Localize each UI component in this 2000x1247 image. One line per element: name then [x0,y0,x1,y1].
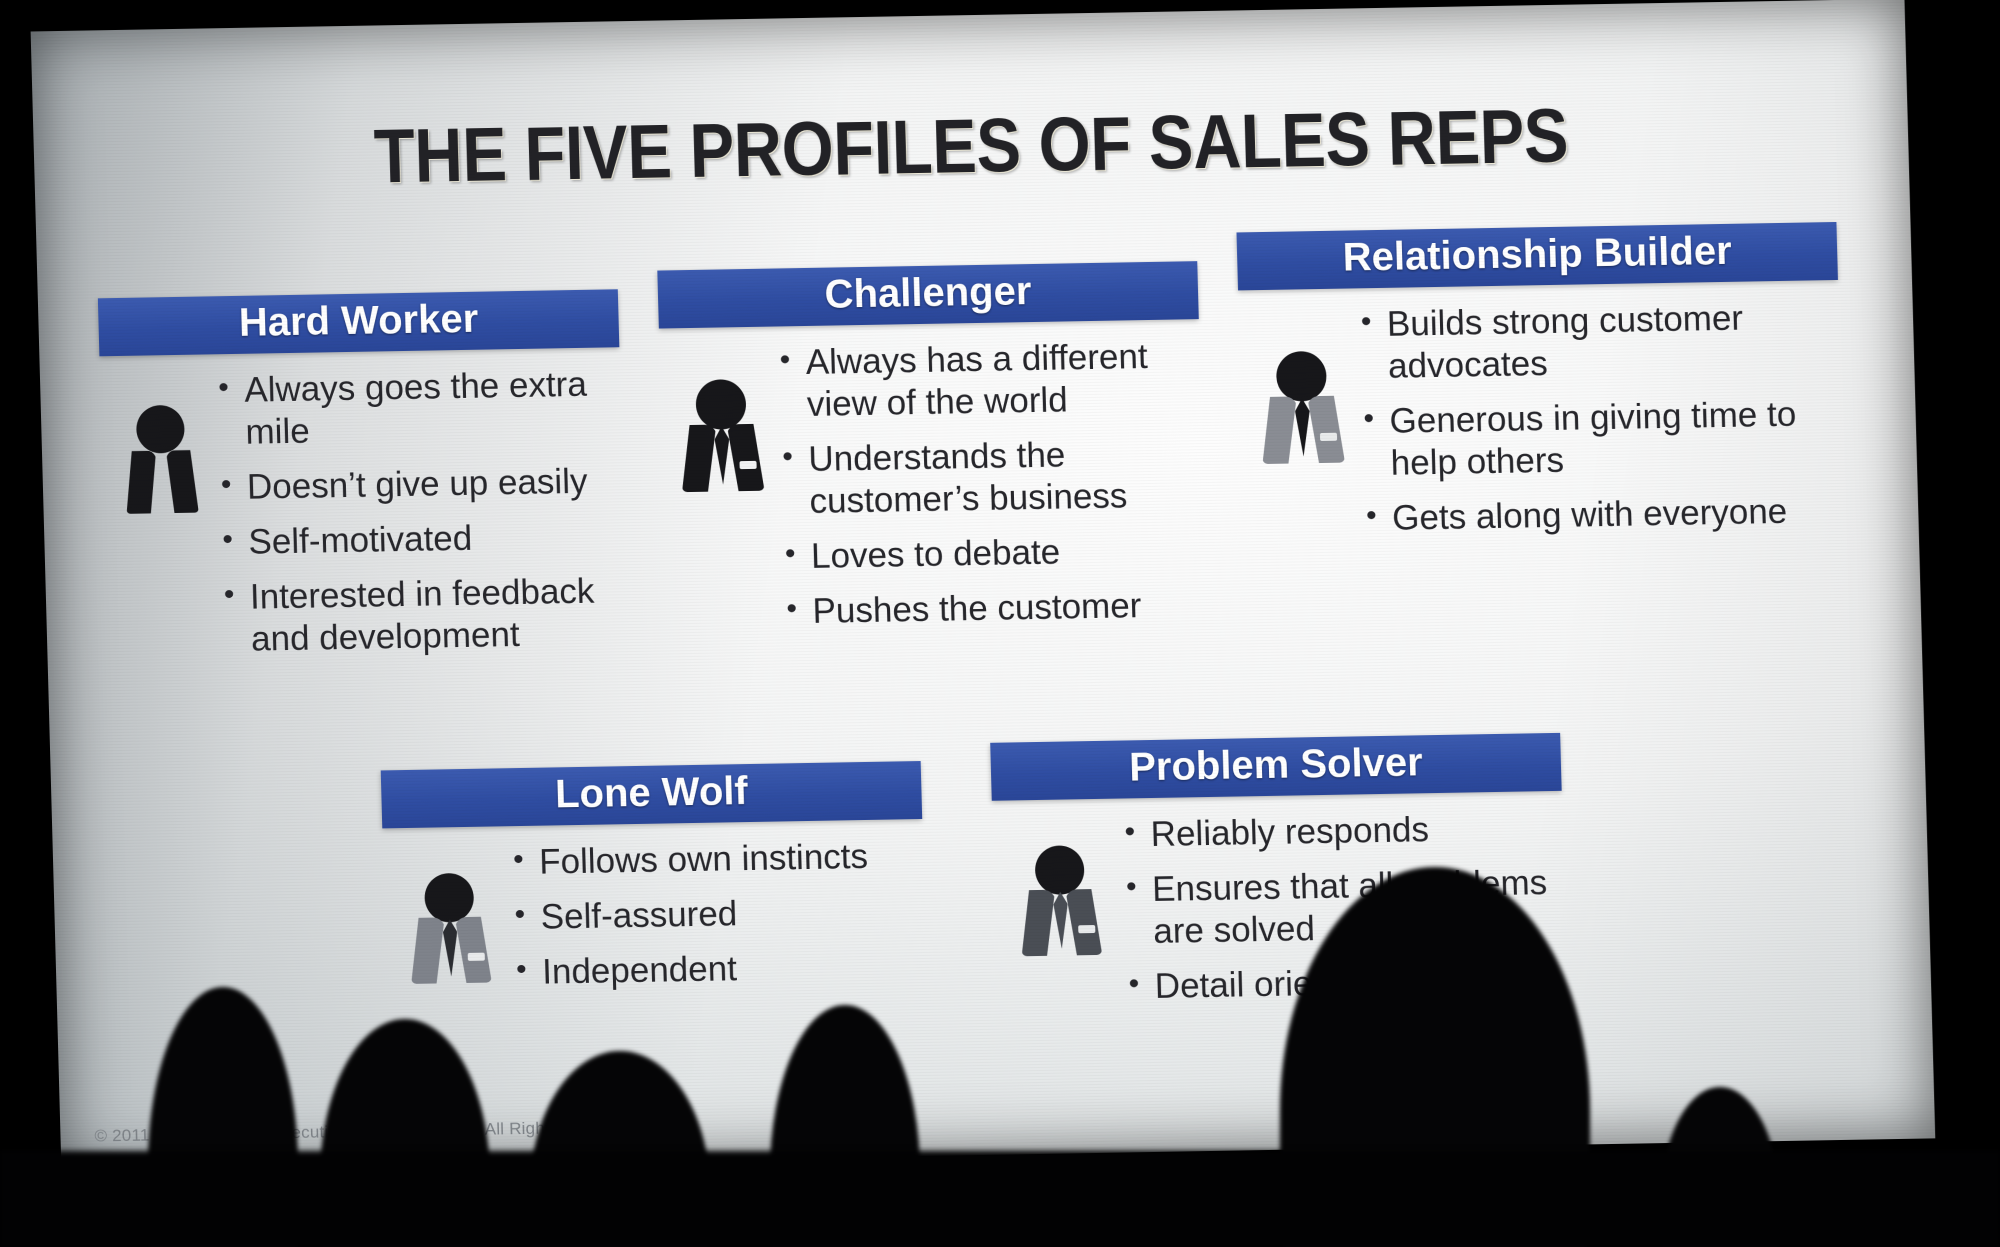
person-head [1035,845,1085,895]
icon-cell [659,342,783,492]
person-suit-icon [677,379,766,492]
icon-cell [100,370,222,514]
person-tie [1053,892,1069,949]
profile-header-challenger: Challenger [657,261,1199,328]
list-item: Self-assured [514,890,925,939]
list-item: Detail oriented [1128,959,1567,1009]
profile-bullets-challenger: Always has a different view of the world… [779,335,1207,646]
person-tie [1295,398,1311,456]
profile-bullets-lone-wolf: Follows own instincts Self-assured Indep… [513,835,927,1007]
profile-header-hard-worker: Hard Worker [98,289,620,356]
profile-header-problem-solver: Problem Solver [990,733,1562,801]
profile-card-challenger: Challenger Always has a differ [657,261,1207,648]
list-item: Interested in feedback and development [223,570,627,661]
person-tie [714,426,730,484]
profile-body-challenger: Always has a different view of the world… [659,319,1208,648]
person-torso-right [166,450,199,513]
person-torso-right [727,424,765,492]
person-plain-icon [119,405,204,514]
person-head [1276,351,1327,402]
person-torso-left [409,917,446,984]
list-item: Generous in giving time to help others [1363,393,1843,485]
slide-surface: THE FIVE PROFILES OF SALES REPS Hard Wor… [31,0,1936,1171]
profile-body-hard-worker: Always goes the extra mile Doesn’t give … [99,347,628,676]
icon-cell [992,814,1128,956]
list-item: Understands the customer’s business [782,432,1204,523]
list-item: Always has a different view of the world [779,335,1201,426]
icon-cell [383,842,517,984]
profile-bullets-hard-worker: Always goes the extra mile Doesn’t give … [218,363,628,674]
icon-cell [1238,304,1364,464]
profile-bullets-problem-solver: Reliably responds Ensures that all probl… [1124,807,1568,1022]
person-torso-right [1065,889,1102,956]
copyright-notice: © 2011 The Corporate Executive Board Com… [94,1117,643,1147]
profile-card-lone-wolf: Lone Wolf Follows own instinct [381,761,927,1009]
person-head [136,405,185,454]
list-item: Self-motivated [222,515,625,564]
person-pocket-square [740,461,757,469]
person-head [695,379,746,430]
list-item: Reliably responds [1124,807,1563,857]
profile-card-relationship-builder: Relationship Builder Builds st [1236,222,1845,555]
profile-card-hard-worker: Hard Worker Always goes the extra mile D… [98,289,628,676]
person-pocket-square [1078,925,1095,933]
profile-card-problem-solver: Problem Solver Reliably respon [990,733,1568,1024]
list-item: Doesn’t give up easily [220,460,623,509]
person-suit-icon [407,873,494,984]
list-item: Builds strong customer advocates [1360,296,1840,388]
projected-slide-photo: THE FIVE PROFILES OF SALES REPS Hard Wor… [0,0,2000,1247]
profile-body-relationship-builder: Builds strong customer advocates Generou… [1238,280,1845,555]
person-torso-right [1307,395,1345,463]
person-torso-left [1020,890,1057,957]
list-item: Always goes the extra mile [218,363,622,454]
person-pocket-square [468,953,485,961]
person-tie [443,919,459,976]
person-torso-left [125,451,158,514]
person-torso-left [1261,396,1299,464]
page-title: THE FIVE PROFILES OF SALES REPS [145,89,1796,205]
list-item: Gets along with everyone [1366,490,1845,540]
list-item: Ensures that all problems are solved [1126,862,1566,954]
profile-bullets-relationship-builder: Builds strong customer advocates Generou… [1360,296,1845,553]
profile-body-problem-solver: Reliably responds Ensures that all probl… [992,791,1568,1024]
person-torso-left [680,424,718,492]
profile-header-lone-wolf: Lone Wolf [381,761,923,828]
list-item: Loves to debate [785,529,1206,578]
person-pocket-square [1320,432,1337,440]
person-head [424,873,474,923]
profile-header-relationship-builder: Relationship Builder [1236,222,1838,290]
list-item: Independent [516,945,927,994]
person-torso-right [455,917,492,984]
person-suit-icon [1017,845,1104,956]
list-item: Pushes the customer [786,584,1207,633]
slide-background: THE FIVE PROFILES OF SALES REPS Hard Wor… [31,0,1936,1171]
profile-body-lone-wolf: Follows own instincts Self-assured Indep… [382,819,927,1009]
person-suit-icon [1258,351,1347,464]
list-item: Follows own instincts [513,835,924,884]
